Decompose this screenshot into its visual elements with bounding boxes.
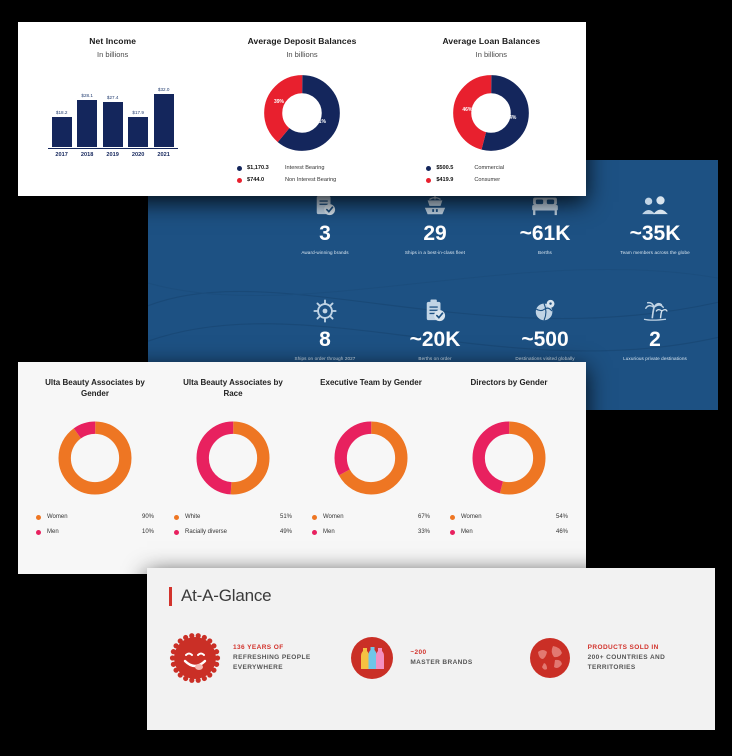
chart-title: Ulta Beauty Associates by Gender xyxy=(40,378,150,404)
stat-cell: 3 Award-winning brands xyxy=(270,188,380,294)
donut-slice xyxy=(65,428,126,489)
stat-value: ~500 xyxy=(521,329,568,350)
legend-dot-icon xyxy=(450,515,455,520)
stat-value: 29 xyxy=(423,223,446,244)
legend-dot-icon xyxy=(36,530,41,535)
glance-text: ~200 MASTER BRANDS xyxy=(410,648,472,668)
legend-value: 51% xyxy=(280,514,292,520)
net-income-chart-column: Net Income In billions $18.2$28.1$27.4$1… xyxy=(18,22,207,196)
globe-icon xyxy=(524,632,576,684)
stat-cell: 2 Luxurious private destinations xyxy=(600,294,710,400)
ulta-columns: Ulta Beauty Associates by Gender Women 9… xyxy=(18,362,586,574)
bar-item: $27.4 xyxy=(103,77,123,147)
donut-slice-label: 61% xyxy=(316,119,326,125)
bar-item: $28.1 xyxy=(77,77,97,147)
legend-dot-icon xyxy=(174,515,179,520)
legend-dot-icon xyxy=(426,166,431,171)
ulta-column: Ulta Beauty Associates by Race White 51%… xyxy=(164,378,302,574)
bar-axis-labels: 20172018201920202021 xyxy=(48,148,178,161)
glance-item: ~200 MASTER BRANDS xyxy=(346,632,523,684)
deposit-legend: $1,170.3 Interest Bearing $744.0 Non Int… xyxy=(237,165,367,189)
deposit-chart-column: Average Deposit Balances In billions 61%… xyxy=(207,22,396,196)
legend-value: 46% xyxy=(556,529,568,535)
stat-value: 8 xyxy=(319,329,331,350)
ulta-column: Executive Team by Gender Women 67% Men 3… xyxy=(302,378,440,574)
bar xyxy=(128,117,148,147)
legend-item: White 51% xyxy=(174,514,292,520)
legend-dot-icon xyxy=(36,515,41,520)
chart-title: Average Deposit Balances xyxy=(248,36,357,46)
loan-legend: $500.5 Commercial $419.9 Consumer xyxy=(426,165,556,189)
at-a-glance-card: At-A-Glance 136 YEARS OF REFRESHING PEOP… xyxy=(147,568,715,730)
legend-label: Men xyxy=(461,529,556,535)
bar-value-label: $28.1 xyxy=(81,93,93,98)
ulta-column: Ulta Beauty Associates by Gender Women 9… xyxy=(26,378,164,574)
loan-donut-chart: 54% 46% xyxy=(453,75,529,151)
people-group-icon xyxy=(641,192,669,218)
chart-title: Net Income xyxy=(89,36,136,46)
bar-value-label: $32.0 xyxy=(158,87,170,92)
palm-island-icon xyxy=(642,298,668,324)
bar xyxy=(77,100,97,147)
donut-chart xyxy=(55,418,135,498)
chart-subtitle: In billions xyxy=(97,50,128,59)
stat-label: Berths on order xyxy=(418,356,451,361)
stat-label: Berths xyxy=(538,250,552,255)
stat-cell: 29 Ships in a best-in-class fleet xyxy=(380,188,490,294)
legend-value: $1,170.3 xyxy=(247,165,281,171)
legend-label: Men xyxy=(323,529,418,535)
glance-strong-line: PRODUCTS SOLD IN xyxy=(588,643,666,653)
legend: Women 54% Men 46% xyxy=(450,514,568,544)
legend-value: 33% xyxy=(418,529,430,535)
stat-label: Award-winning brands xyxy=(301,250,348,255)
donut-slice-label: 46% xyxy=(462,107,472,113)
glance-item: 136 YEARS OF REFRESHING PEOPLE EVERYWHER… xyxy=(169,632,346,684)
legend-label: Men xyxy=(47,529,142,535)
legend-dot-icon xyxy=(426,178,431,183)
legend-item: $744.0 Non Interest Bearing xyxy=(237,177,367,183)
legend-value: $744.0 xyxy=(247,177,281,183)
bar-value-label: $18.2 xyxy=(56,110,68,115)
stat-label: Team members across the globe xyxy=(620,250,690,255)
loan-chart-column: Average Loan Balances In billions 54% 46… xyxy=(397,22,586,196)
glance-line: 200+ COUNTRIES AND xyxy=(588,653,666,663)
legend-dot-icon xyxy=(312,530,317,535)
legend-label: Consumer xyxy=(474,177,500,183)
glance-item: PRODUCTS SOLD IN 200+ COUNTRIES AND TERR… xyxy=(524,632,701,684)
bottles-icon xyxy=(346,632,398,684)
glance-items: 136 YEARS OF REFRESHING PEOPLE EVERYWHER… xyxy=(147,606,715,684)
stat-cell: ~61K Berths xyxy=(490,188,600,294)
donut-chart xyxy=(331,418,411,498)
stat-value: ~35K xyxy=(630,223,681,244)
bar-category-label: 2021 xyxy=(154,149,174,161)
bottlecap-smiley-icon xyxy=(169,632,221,684)
legend-value: 10% xyxy=(142,529,154,535)
legend: Women 90% Men 10% xyxy=(36,514,154,544)
clipboard-list-icon xyxy=(424,298,446,324)
legend: Women 67% Men 33% xyxy=(312,514,430,544)
stat-label: Ships on order through 2027 xyxy=(295,356,356,361)
ship-wheel-icon xyxy=(313,298,337,324)
stat-value: 3 xyxy=(319,223,331,244)
bar-value-label: $17.9 xyxy=(132,110,144,115)
donut-chart xyxy=(193,418,273,498)
bar-category-label: 2020 xyxy=(128,149,148,161)
legend-value: 54% xyxy=(556,514,568,520)
legend-item: Women 90% xyxy=(36,514,154,520)
bar-category-label: 2018 xyxy=(77,149,97,161)
donut-slice-label: 54% xyxy=(506,115,516,121)
accent-bar xyxy=(169,587,172,606)
legend-label: Women xyxy=(461,514,556,520)
page-title: At-A-Glance xyxy=(181,586,271,606)
bar-item: $17.9 xyxy=(128,77,148,147)
legend-value: 90% xyxy=(142,514,154,520)
bar xyxy=(103,102,123,147)
bar xyxy=(154,94,174,147)
glance-line: EVERYWHERE xyxy=(233,663,311,673)
stat-value: 2 xyxy=(649,329,661,350)
glance-strong-line: ~200 xyxy=(410,648,472,658)
legend: White 51% Racially diverse 49% xyxy=(174,514,292,544)
chart-subtitle: In billions xyxy=(476,50,507,59)
legend-label: Women xyxy=(47,514,142,520)
stat-value: ~20K xyxy=(410,329,461,350)
stat-label: Luxurious private destinations xyxy=(623,356,687,361)
deposit-donut-chart: 61% 39% xyxy=(264,75,340,151)
glance-text: 136 YEARS OF REFRESHING PEOPLE EVERYWHER… xyxy=(233,643,311,672)
glance-line: MASTER BRANDS xyxy=(410,658,472,668)
legend-dot-icon xyxy=(174,530,179,535)
legend-item: Men 33% xyxy=(312,529,430,535)
chart-title: Directors by Gender xyxy=(454,378,564,404)
stat-label: Ships in a best-in-class fleet xyxy=(405,250,465,255)
donut-chart xyxy=(469,418,549,498)
legend-dot-icon xyxy=(237,178,242,183)
globe-pin-icon xyxy=(533,298,557,324)
bar-item: $32.0 xyxy=(154,77,174,147)
stat-value: ~61K xyxy=(520,223,571,244)
stat-cell: ~35K Team members across the globe xyxy=(600,188,710,294)
legend-item: Men 46% xyxy=(450,529,568,535)
legend-item: Women 67% xyxy=(312,514,430,520)
ulta-diversity-card: Ulta Beauty Associates by Gender Women 9… xyxy=(18,362,586,574)
chart-title: Executive Team by Gender xyxy=(316,378,426,404)
chart-title: Ulta Beauty Associates by Race xyxy=(178,378,288,404)
legend-value: $500.5 xyxy=(436,165,470,171)
glance-line: REFRESHING PEOPLE xyxy=(233,653,311,663)
stat-label: Destinations visited globally xyxy=(515,356,574,361)
legend-value: 49% xyxy=(280,529,292,535)
legend-label: Commercial xyxy=(474,165,504,171)
net-income-bar-chart: $18.2$28.1$27.4$17.9$32.0 20172018201920… xyxy=(48,75,178,161)
bar-category-label: 2019 xyxy=(103,149,123,161)
legend-dot-icon xyxy=(237,166,242,171)
legend-item: $1,170.3 Interest Bearing xyxy=(237,165,367,171)
glance-strong-line: 136 YEARS OF xyxy=(233,643,311,653)
chart-title: Average Loan Balances xyxy=(442,36,540,46)
legend-label: Interest Bearing xyxy=(285,165,325,171)
legend-item: $500.5 Commercial xyxy=(426,165,556,171)
legend-label: White xyxy=(185,514,280,520)
legend-label: Non Interest Bearing xyxy=(285,177,336,183)
chart-subtitle: In billions xyxy=(286,50,317,59)
bar xyxy=(52,117,72,147)
legend-item: Men 10% xyxy=(36,529,154,535)
legend-value: 67% xyxy=(418,514,430,520)
glance-header: At-A-Glance xyxy=(147,568,715,606)
glance-line: TERRITORIES xyxy=(588,663,666,673)
bar-item: $18.2 xyxy=(52,77,72,147)
legend-label: Women xyxy=(323,514,418,520)
legend-item: Racially diverse 49% xyxy=(174,529,292,535)
donut-slice-label: 39% xyxy=(274,99,284,105)
legend-dot-icon xyxy=(312,515,317,520)
bar-value-label: $27.4 xyxy=(107,95,119,100)
bar-category-label: 2017 xyxy=(52,149,72,161)
legend-dot-icon xyxy=(450,530,455,535)
bank-metrics-card: Net Income In billions $18.2$28.1$27.4$1… xyxy=(18,22,586,196)
legend-value: $419.9 xyxy=(436,177,470,183)
legend-label: Racially diverse xyxy=(185,529,280,535)
legend-item: Women 54% xyxy=(450,514,568,520)
legend-item: $419.9 Consumer xyxy=(426,177,556,183)
ulta-column: Directors by Gender Women 54% Men 46% xyxy=(440,378,578,574)
bar-series: $18.2$28.1$27.4$17.9$32.0 xyxy=(48,77,178,147)
glance-text: PRODUCTS SOLD IN 200+ COUNTRIES AND TERR… xyxy=(588,643,666,672)
